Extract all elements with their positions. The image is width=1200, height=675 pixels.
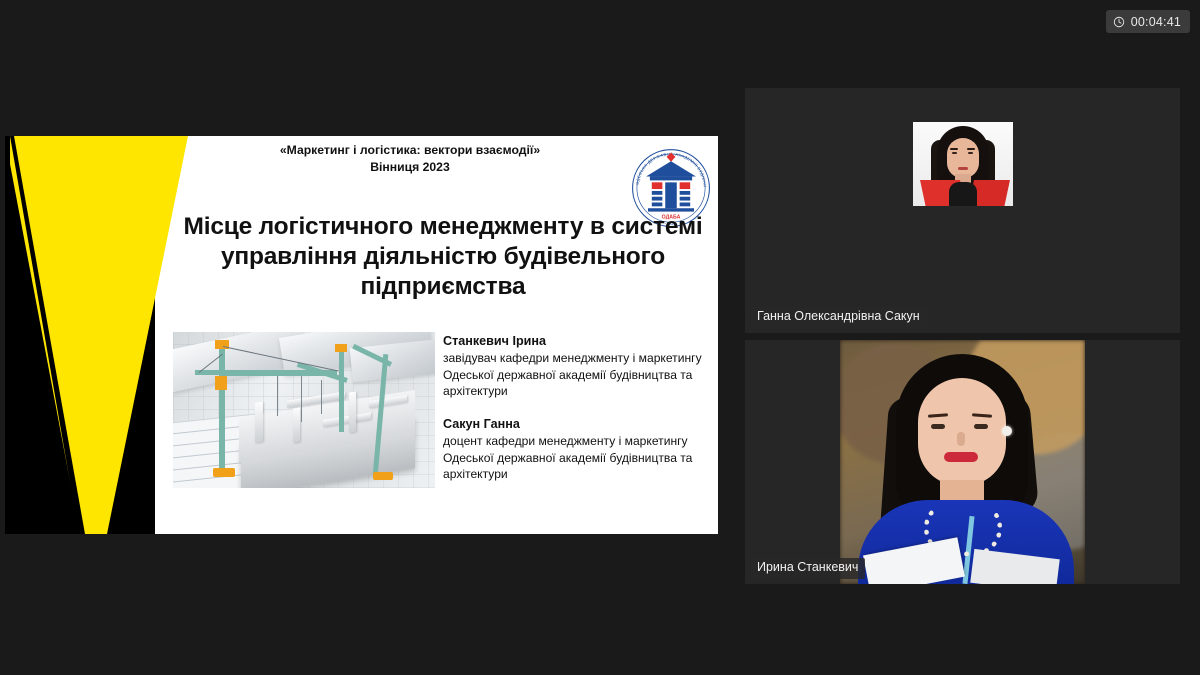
participant-tile[interactable]: Ирина Станкевич — [745, 340, 1180, 584]
participant-video — [840, 340, 1085, 584]
slide-conference-title: «Маркетинг і логістика: вектори взаємоді… — [195, 142, 625, 159]
meeting-timer-badge[interactable]: 00:04:41 — [1106, 10, 1190, 33]
clock-icon — [1113, 16, 1125, 28]
slide-conference-place-year: Вінниця 2023 — [195, 159, 625, 176]
avatar — [913, 122, 1013, 206]
shared-screen-slide[interactable]: «Маркетинг і логістика: вектори взаємоді… — [5, 136, 718, 534]
author-role: завідувач кафедри менеджменту і маркетин… — [443, 350, 705, 400]
participant-tiles-panel: Ганна Олександрівна Сакун Ирина Станкеви… — [745, 88, 1180, 584]
author-role: доцент кафедри менеджменту і маркетингу … — [443, 433, 705, 483]
slide-conference-header: «Маркетинг і логістика: вектори взаємоді… — [195, 142, 625, 176]
participant-name-label: Ганна Олександрівна Сакун — [751, 307, 927, 328]
author-name: Станкевич Ірина — [443, 332, 705, 350]
author-name: Сакун Ганна — [443, 415, 705, 433]
participant-name-label: Ирина Станкевич — [751, 558, 865, 579]
top-bar: 00:04:41 — [0, 0, 1200, 44]
meeting-timer-value: 00:04:41 — [1131, 15, 1181, 29]
construction-illustration — [173, 332, 435, 488]
slide-authors-block: Станкевич Ірина завідувач кафедри менедж… — [443, 332, 705, 498]
participant-tile[interactable]: Ганна Олександрівна Сакун — [745, 88, 1180, 333]
video-conference-window: 00:04:41 «Маркетинг і логістика: вектори… — [0, 0, 1200, 675]
slide-main-title: Місце логістичного менеджменту в системі… — [183, 212, 703, 302]
